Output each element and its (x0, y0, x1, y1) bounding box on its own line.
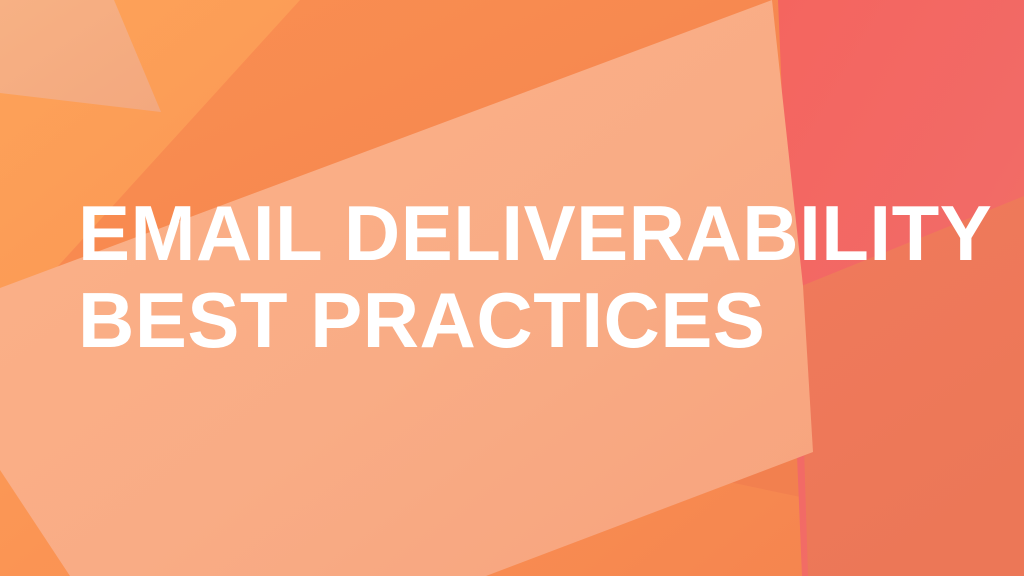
title-line-1: EMAIL DELIVERABILITY (78, 190, 958, 277)
title-line-2: BEST PRACTICES (78, 277, 958, 364)
slide-canvas: EMAIL DELIVERABILITY BEST PRACTICES (0, 0, 1024, 576)
page-title: EMAIL DELIVERABILITY BEST PRACTICES (78, 190, 958, 364)
